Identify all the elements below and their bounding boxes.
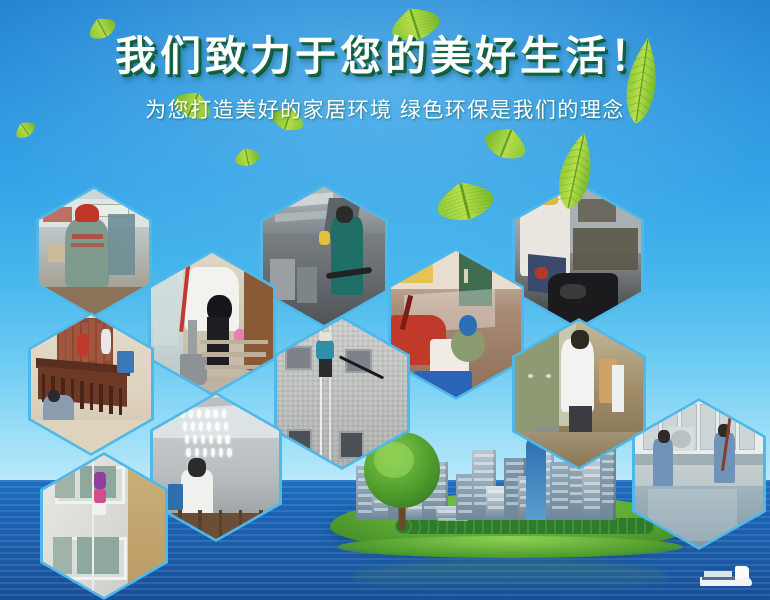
scene-wood-railing [31,315,151,453]
hex-photo [263,187,385,325]
hex-photo [151,253,273,393]
scene-chandelier-clean [153,395,279,539]
hex-glass-curtain[interactable] [632,398,766,550]
promo-banner: 我们致力于您的美好生活！ 为您打造美好的家居环境 绿色环保是我们的理念 [0,0,770,600]
scene-carpet-wash [391,251,521,397]
scene-stone-cutting [39,189,149,315]
scene-glass-curtain [635,401,763,547]
hex-wall-rappel[interactable] [40,452,168,600]
page-subtitle: 为您打造美好的家居环境 绿色环保是我们的理念 [0,94,770,124]
hex-photo [635,401,763,547]
hex-wood-railing[interactable] [28,312,154,456]
hex-photo [153,395,279,539]
hex-photo [277,319,407,467]
hex-photo [31,315,151,453]
hex-chandelier-clean[interactable] [150,392,282,542]
scene-stair-polish [151,253,273,393]
hex-photo [515,321,643,467]
scene-duct-cleaning [263,187,385,325]
page-title: 我们致力于您的美好生活！ [0,34,770,80]
headline-block: 我们致力于您的美好生活！ 为您打造美好的家居环境 绿色环保是我们的理念 [0,34,770,124]
scene-floor-scrub [515,321,643,467]
hex-photo [391,251,521,397]
scene-wall-rappel [43,455,165,597]
hex-stone-cutting[interactable] [36,186,152,318]
hex-duct-cleaning[interactable] [260,184,388,328]
hex-photo [39,189,149,315]
hex-stair-polish[interactable] [148,250,276,396]
hex-floor-scrub[interactable] [512,318,646,470]
hex-photo [43,455,165,597]
scene-facade-rope [277,319,407,467]
